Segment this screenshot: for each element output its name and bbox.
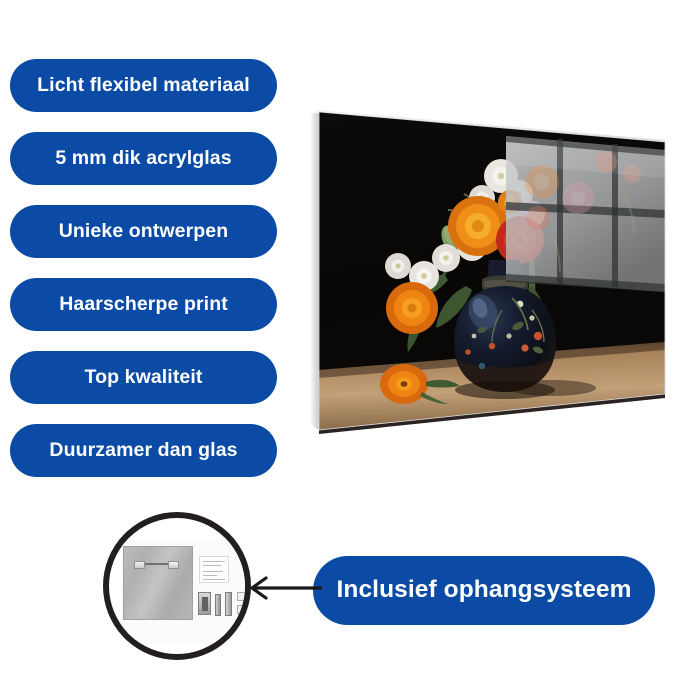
feature-badge-duurzamer-dan-glas: Duurzamer dan glas	[10, 424, 277, 477]
feature-badge-unieke-ontwerpen: Unieke ontwerpen	[10, 205, 277, 258]
screw-1	[215, 594, 221, 616]
screw-2	[225, 592, 232, 616]
feature-badge-label: Unieke ontwerpen	[59, 222, 229, 242]
feature-badge-label: Top kwaliteit	[85, 368, 203, 388]
feature-badge-top-kwaliteit: Top kwaliteit	[10, 351, 277, 404]
mounting-plate: · · · · · · · ·	[123, 546, 193, 620]
acrylic-edge-left	[310, 112, 319, 430]
glass-window-reflection	[506, 136, 665, 292]
instruction-sheet	[199, 556, 229, 583]
product-image-panel	[306, 98, 678, 444]
feature-badge-licht-flexibel-materiaal: Licht flexibel materiaal	[10, 59, 277, 112]
plate-marking-bottom: · · ·	[134, 611, 139, 619]
mounting-hardware-photo: · · · · · · · ·	[121, 540, 247, 644]
feature-badge-5-mm-dik-acrylglas: 5 mm dik acrylglas	[10, 132, 277, 185]
product-feature-composition: Licht flexibel materiaal 5 mm dik acrylg…	[0, 0, 700, 700]
hanging-system-badge: Inclusief ophangsysteem	[313, 556, 655, 625]
wall-mount-cap	[198, 592, 211, 615]
acrylic-print-render	[306, 98, 678, 444]
plate-clip-left	[134, 561, 145, 569]
feature-badge-haarscherpe-print: Haarscherpe print	[10, 278, 277, 331]
plate-marking-top: · · · · ·	[144, 585, 149, 599]
feature-badge-label: 5 mm dik acrylglas	[55, 149, 231, 169]
connector-arrow	[244, 570, 324, 606]
wall-mount-cap-slot	[202, 597, 208, 611]
plate-bar	[144, 563, 169, 565]
feature-badge-label: Licht flexibel materiaal	[37, 76, 250, 96]
hanging-system-inset-circle: · · · · · · · ·	[103, 512, 251, 660]
feature-badge-label: Duurzamer dan glas	[49, 441, 237, 461]
plate-clip-right	[168, 561, 179, 569]
spacer-1	[237, 592, 247, 601]
hanging-system-badge-label: Inclusief ophangsysteem	[336, 578, 631, 603]
spacer-2	[237, 605, 247, 614]
feature-badge-label: Haarscherpe print	[59, 295, 228, 315]
